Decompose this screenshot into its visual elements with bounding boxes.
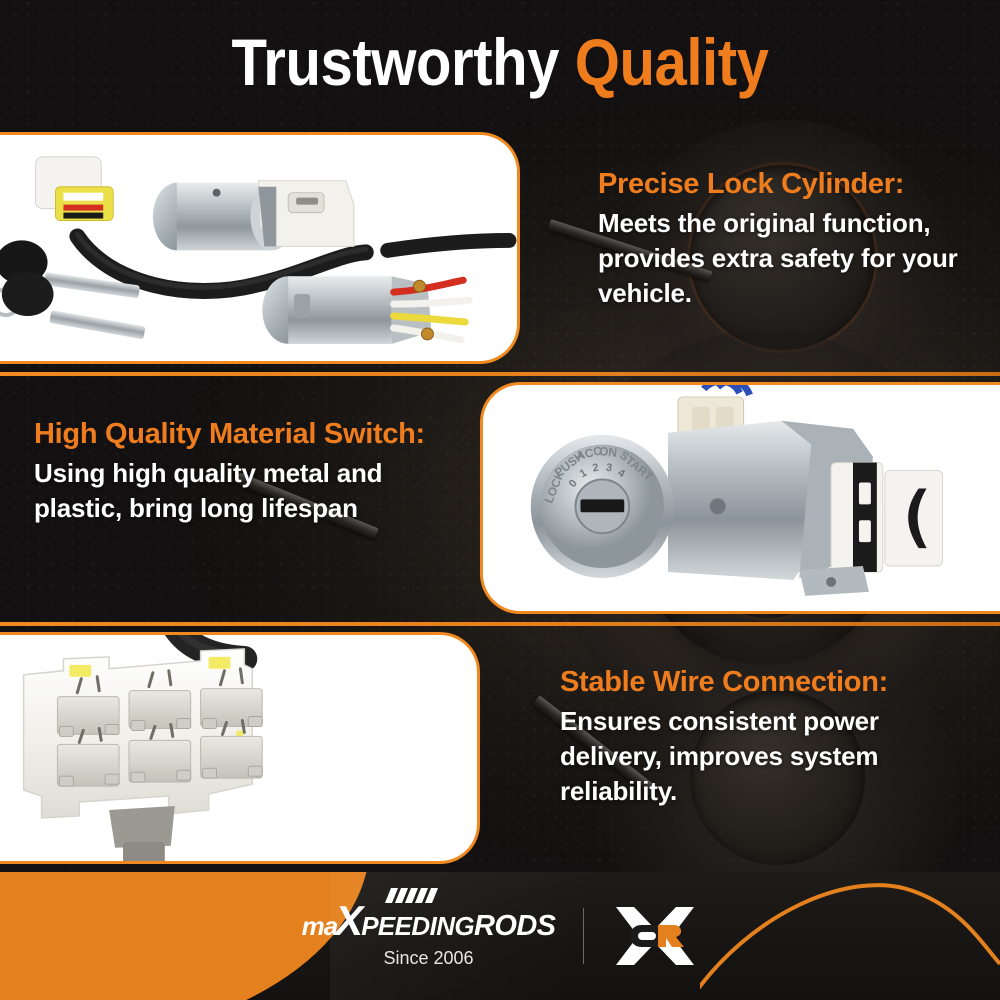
xqr-logo-mark: [612, 905, 698, 967]
brand-tagline: Since 2006: [302, 948, 556, 969]
brand-text-rods: RODS: [474, 910, 555, 943]
section-divider-2: [0, 622, 1000, 626]
feature-body-1: Meets the original function, provides ex…: [598, 206, 968, 310]
logo-separator: [583, 908, 584, 964]
feature-text-precise-lock-cylinder: Precise Lock Cylinder: Meets the origina…: [598, 168, 968, 310]
feature-image-panel-wire-connector: [0, 632, 480, 864]
infographic-poster: Trustworthy Quality: [0, 0, 1000, 1000]
feature-text-high-quality-material-switch: High Quality Material Switch: Using high…: [34, 418, 454, 526]
section-divider-1: [0, 372, 1000, 376]
ignition-switch-illustration: LOCK PUSH ACC ON START 0 1 2 3 4: [483, 385, 1000, 614]
feature-heading-1: Precise Lock Cylinder:: [598, 168, 968, 200]
feature-body-3: Ensures consistent power delivery, impro…: [560, 704, 960, 808]
feature-text-stable-wire-connection: Stable Wire Connection: Ensures consiste…: [560, 666, 960, 808]
footer-logo-area: ma X peeding RODS Since 2006: [0, 872, 1000, 1000]
footer-bar: ma X peeding RODS Since 2006: [0, 872, 1000, 1000]
wire-connector-illustration: [0, 635, 477, 864]
checkered-flag-icon: [388, 888, 435, 903]
brand-logo[interactable]: ma X peeding RODS Since 2006: [302, 904, 556, 969]
brand-text-peeding: peeding: [361, 911, 474, 942]
feature-body-2: Using high quality metal and plastic, br…: [34, 456, 454, 525]
feature-heading-2: High Quality Material Switch:: [34, 418, 454, 450]
page-title: Trustworthy Quality: [0, 28, 1000, 97]
xqr-logo[interactable]: [612, 905, 698, 967]
brand-text-ma: ma: [302, 911, 338, 942]
feature-image-panel-switch-barrel: LOCK PUSH ACC ON START 0 1 2 3 4: [480, 382, 1000, 614]
lock-cylinder-illustration: [0, 135, 517, 364]
feature-heading-3: Stable Wire Connection:: [560, 666, 960, 698]
brand-text-x: X: [335, 904, 363, 938]
title-white-part: Trustworthy: [231, 25, 559, 99]
svg-text:ON: ON: [598, 444, 617, 460]
feature-image-panel-lock-cylinder: [0, 132, 520, 364]
title-orange-part: Quality: [575, 25, 769, 99]
